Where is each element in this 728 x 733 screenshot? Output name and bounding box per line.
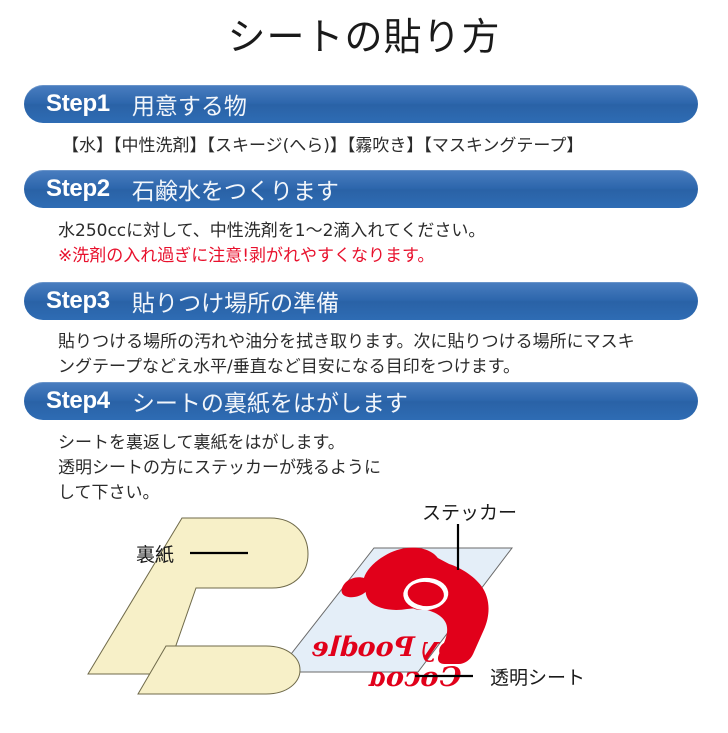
step-1-materials-list: 【水】【中性洗剤】【スキージ(へら)】【霧吹き】【マスキングテープ】 <box>62 134 583 159</box>
backing-paper-flap <box>138 646 300 694</box>
label-clear-sheet: 透明シート <box>490 663 585 690</box>
step-bar-2: Step2 石鹸水をつくります <box>24 170 698 208</box>
step-3-body: 貼りつける場所の汚れや油分を拭き取ります。次に貼りつける場所にマスキングテープな… <box>58 330 646 380</box>
label-backing-paper: 裏紙 <box>136 540 174 567</box>
step-bar-1: Step1 用意する物 <box>24 85 698 123</box>
step-bar-4: Step4 シートの裏紙をはがします <box>24 382 698 420</box>
step-2-line-1: 水250ccに対して、中性洗剤を1〜2滴入れてください。 <box>58 219 485 244</box>
step-heading-1: 用意する物 <box>132 87 247 121</box>
step-number-2: Step2 <box>46 175 110 203</box>
illustration-svg: Toy Poodle Cocoa <box>0 496 728 728</box>
step-heading-3: 貼りつけ場所の準備 <box>132 284 339 318</box>
step-heading-2: 石鹸水をつくります <box>132 172 339 206</box>
step-number-1: Step1 <box>46 90 110 118</box>
instruction-sheet: シートの貼り方 Step1 用意する物 【水】【中性洗剤】【スキージ(へら)】【… <box>0 0 728 728</box>
sticker-text-line-1: Toy Poodle <box>305 630 481 662</box>
step-number-3: Step3 <box>46 287 110 315</box>
step-bar-3: Step3 貼りつけ場所の準備 <box>24 282 698 320</box>
step-heading-4: シートの裏紙をはがします <box>132 384 408 418</box>
step-number-4: Step4 <box>46 387 110 415</box>
step-4-line-2: 透明シートの方にステッカーが残るように <box>58 456 381 481</box>
label-sticker: ステッカー <box>422 498 517 525</box>
peel-backing-illustration: Toy Poodle Cocoa 裏紙 ステッカー 透明シート <box>0 496 728 728</box>
step-2-warning: ※洗剤の入れ過ぎに注意!剥がれやすくなります。 <box>58 244 434 269</box>
step-4-line-1: シートを裏返して裏紙をはがします。 <box>58 431 345 456</box>
page-title: シートの貼り方 <box>0 6 728 61</box>
